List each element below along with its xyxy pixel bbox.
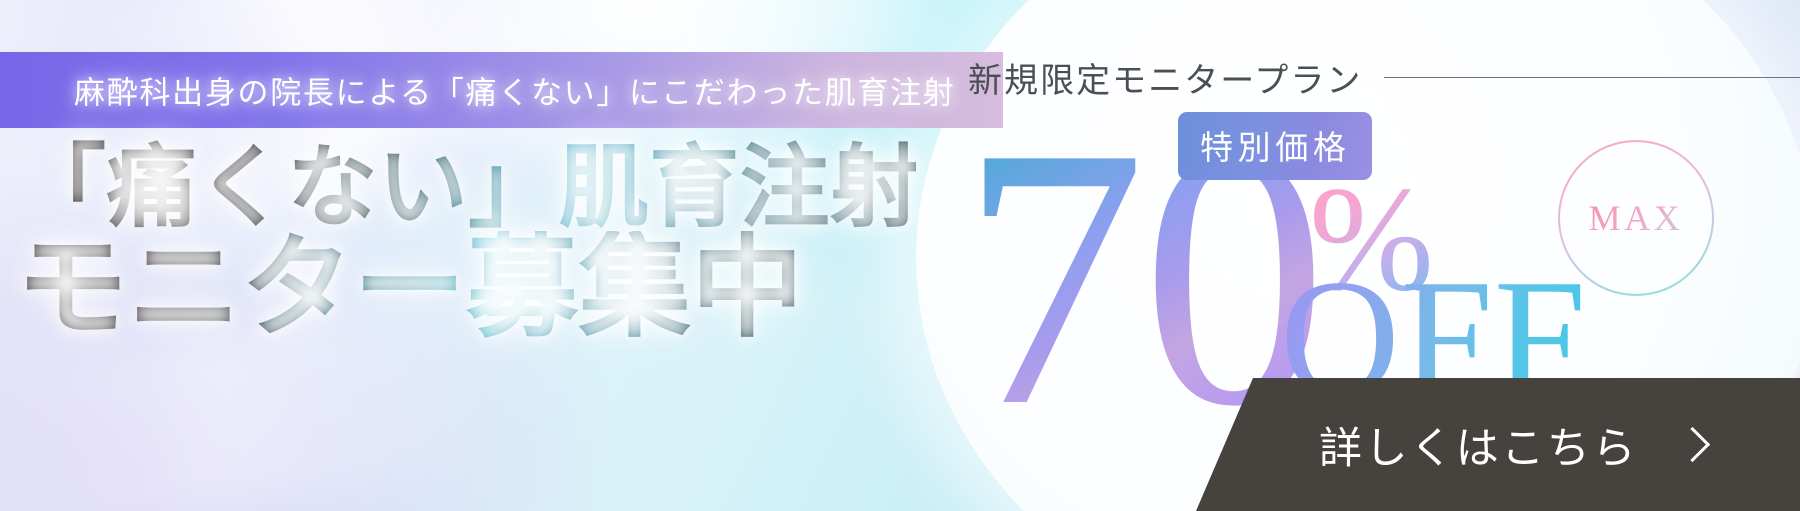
plan-divider: [1384, 77, 1800, 78]
promo-banner: 麻酔科出身の院長による「痛くない」にこだわった肌育注射 「痛くない」肌育注射 モ…: [0, 0, 1800, 511]
max-badge-label: MAX: [1589, 197, 1684, 239]
subtitle-band: 麻酔科出身の院長による「痛くない」にこだわった肌育注射: [0, 52, 1003, 128]
headline-line-2: モニター募集中: [16, 231, 916, 349]
details-button[interactable]: 詳しくはこちら: [1196, 378, 1800, 511]
status-badge: 特別価格: [1178, 112, 1372, 180]
headline-line-1: 「痛くない」肌育注射: [16, 140, 916, 237]
chevron-right-icon: [1675, 427, 1710, 462]
max-badge: MAX: [1558, 140, 1714, 296]
details-button-label: 詳しくはこちら: [1319, 414, 1638, 476]
subtitle-text: 麻酔科出身の院長による「痛くない」にこだわった肌育注射: [74, 68, 955, 113]
page-title: 「痛くない」肌育注射 モニター募集中: [16, 140, 916, 349]
details-button-content: 詳しくはこちら: [1319, 414, 1705, 476]
